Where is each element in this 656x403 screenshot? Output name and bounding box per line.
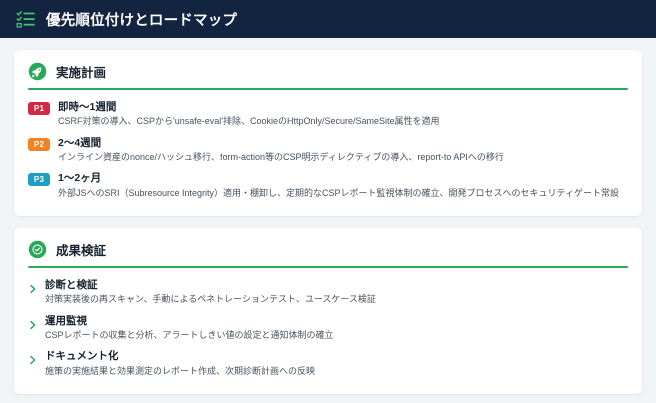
slide-page: 優先順位付けとロードマップ 実施計画 P1 即時〜1週間: [0, 0, 656, 403]
card-outcome-verification: 成果検証 診断と検証 対策実装後の再スキャン、手動によるペネトレーションテスト、…: [14, 228, 642, 394]
chevron-right-icon: [28, 352, 38, 362]
verification-content: 運用監視 CSPレポートの収集と分析、アラートしきい値の設定と通知体制の確立: [45, 314, 334, 343]
priority-badge-p3: P3: [28, 173, 50, 186]
priority-content: 2〜4週間 インライン資産のnonce/ハッシュ移行、form-action等の…: [58, 136, 628, 165]
priority-title: 即時〜1週間: [58, 100, 628, 114]
verification-title: 診断と検証: [45, 278, 376, 292]
rocket-icon: [28, 62, 47, 81]
check-circle-icon: [28, 240, 47, 259]
verification-content: ドキュメント化 施策の実施結果と効果測定のレポート作成、次期診断計画への反映: [45, 349, 315, 378]
priority-content: 即時〜1週間 CSRF対策の導入、CSPから'unsafe-eval'排除、Co…: [58, 100, 628, 129]
verification-content: 診断と検証 対策実装後の再スキャン、手動によるペネトレーションテスト、ユースケー…: [45, 278, 376, 307]
priority-row: P2 2〜4週間 インライン資産のnonce/ハッシュ移行、form-actio…: [28, 133, 628, 169]
card-divider: [28, 266, 628, 268]
page-header: 優先順位付けとロードマップ: [0, 0, 656, 38]
verification-title: 運用監視: [45, 314, 334, 328]
verification-title: ドキュメント化: [45, 349, 315, 363]
card-implementation-plan: 実施計画 P1 即時〜1週間 CSRF対策の導入、CSPから'unsafe-ev…: [14, 50, 642, 216]
priority-content: 1〜2ヶ月 外部JSへのSRI（Subresource Integrity）適用…: [58, 171, 628, 200]
priority-badge-p2: P2: [28, 138, 50, 151]
priority-title: 2〜4週間: [58, 136, 628, 150]
priority-badge-p1: P1: [28, 102, 50, 115]
chevron-right-icon: [28, 317, 38, 327]
chevron-right-icon: [28, 281, 38, 291]
verification-description: 対策実装後の再スキャン、手動によるペネトレーションテスト、ユースケース検証: [45, 293, 376, 307]
card-title: 成果検証: [56, 240, 106, 259]
checklist-icon: [16, 9, 36, 29]
priority-description: インライン資産のnonce/ハッシュ移行、form-action等のCSP明示デ…: [58, 151, 628, 165]
priority-title: 1〜2ヶ月: [58, 171, 628, 185]
verification-row: 運用監視 CSPレポートの収集と分析、アラートしきい値の設定と通知体制の確立: [28, 311, 628, 347]
card-header: 実施計画: [28, 60, 628, 88]
priority-description: 外部JSへのSRI（Subresource Integrity）適用・棚卸し、定…: [58, 187, 628, 201]
content-area: 実施計画 P1 即時〜1週間 CSRF対策の導入、CSPから'unsafe-ev…: [0, 38, 656, 403]
priority-description: CSRF対策の導入、CSPから'unsafe-eval'排除、CookieのHt…: [58, 115, 628, 129]
verification-row: 診断と検証 対策実装後の再スキャン、手動によるペネトレーションテスト、ユースケー…: [28, 275, 628, 311]
verification-description: CSPレポートの収集と分析、アラートしきい値の設定と通知体制の確立: [45, 329, 334, 343]
card-divider: [28, 88, 628, 90]
card-header: 成果検証: [28, 238, 628, 266]
priority-row: P3 1〜2ヶ月 外部JSへのSRI（Subresource Integrity…: [28, 168, 628, 204]
page-title: 優先順位付けとロードマップ: [46, 9, 237, 30]
verification-row: ドキュメント化 施策の実施結果と効果測定のレポート作成、次期診断計画への反映: [28, 346, 628, 382]
card-title: 実施計画: [56, 62, 106, 81]
verification-description: 施策の実施結果と効果測定のレポート作成、次期診断計画への反映: [45, 365, 315, 379]
priority-row: P1 即時〜1週間 CSRF対策の導入、CSPから'unsafe-eval'排除…: [28, 97, 628, 133]
